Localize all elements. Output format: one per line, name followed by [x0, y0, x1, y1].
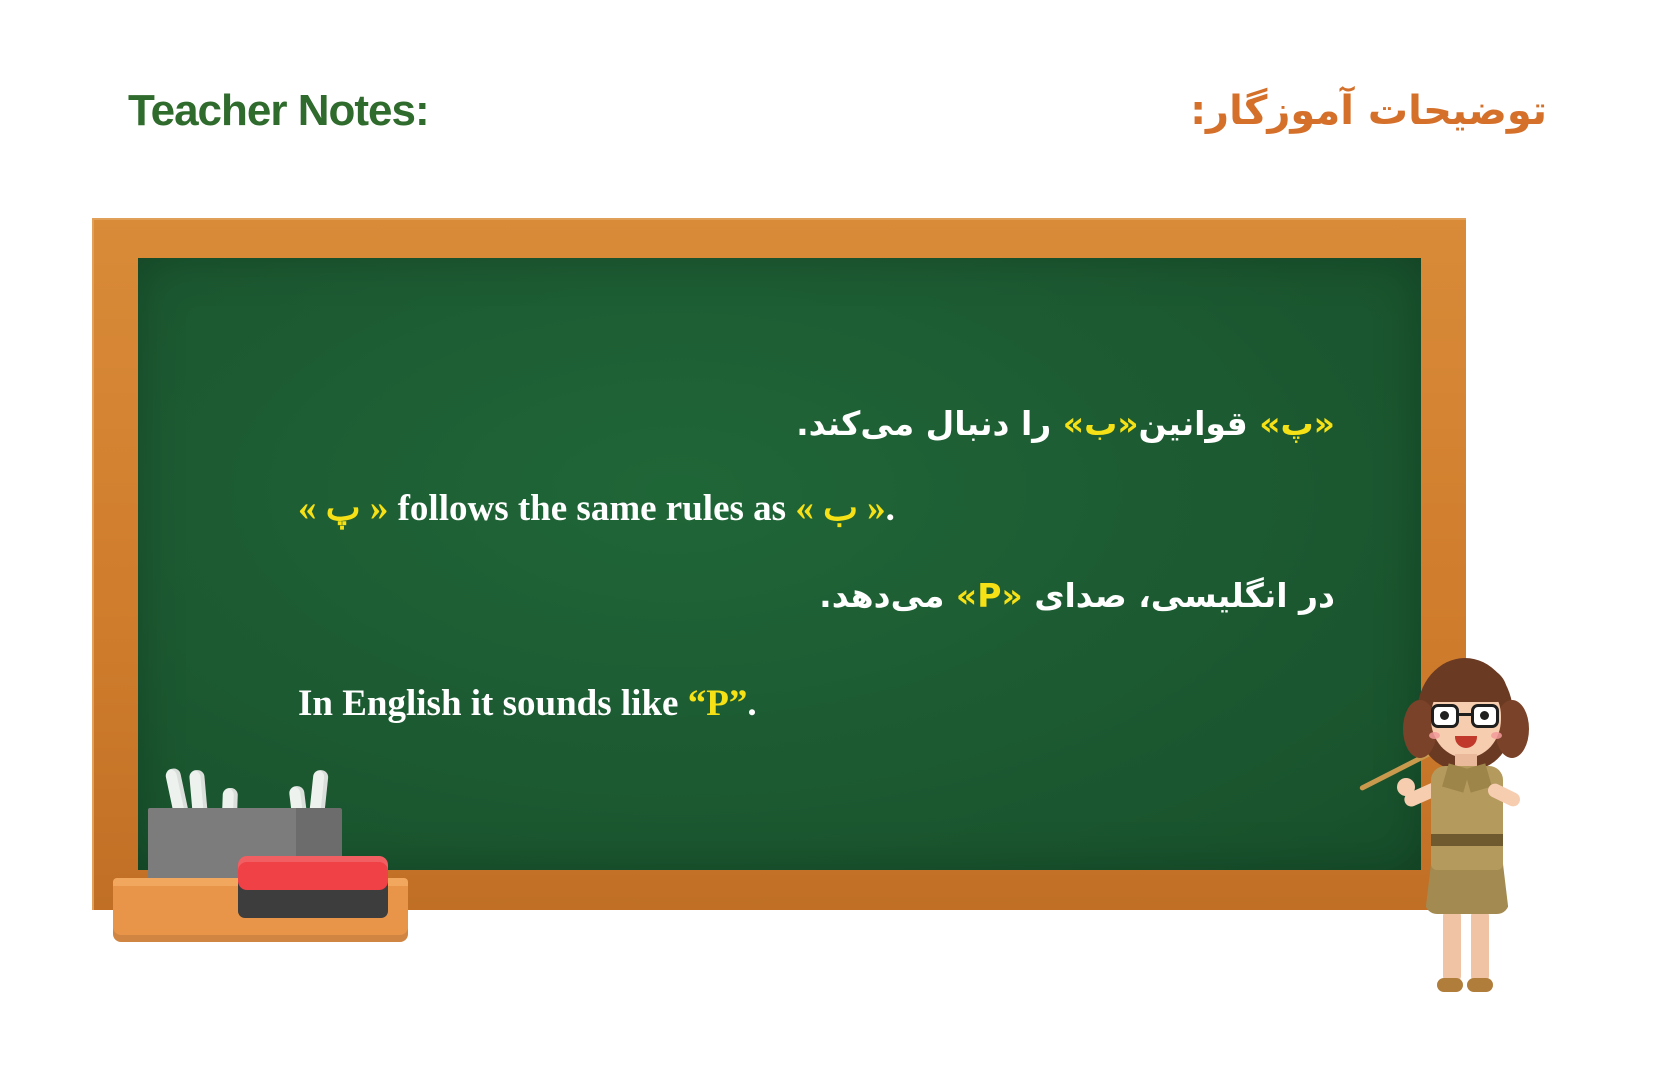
board-line-en-sound-text: In English it sounds like	[298, 683, 688, 724]
teacher-cheek-left	[1429, 732, 1440, 739]
teacher-belt	[1431, 834, 1503, 846]
teacher-hair-fringe	[1425, 668, 1507, 702]
board-line-fa-rule-text-2: را دنبال می‌کند.	[796, 404, 1063, 443]
board-eraser	[238, 856, 388, 890]
letter-be-en-quoted: « ب »	[795, 488, 885, 529]
board-line-en-rule: « پ » follows the same rules as « ب ».	[298, 486, 895, 530]
board-line-fa-sound-text-2: می‌دهد.	[819, 576, 956, 615]
teacher-illustration	[1395, 648, 1535, 1008]
sound-p-fa: «P»	[956, 576, 1023, 615]
teacher-cheek-right	[1491, 732, 1502, 739]
board-line-fa-rule-text-1: قوانین	[1139, 404, 1260, 443]
board-line-fa-sound-text-1: در انگلیسی، صدای	[1023, 576, 1335, 615]
teacher-eye-right	[1480, 711, 1489, 720]
board-line-en-rule-period: .	[886, 488, 895, 529]
letter-be-fa: «ب»	[1063, 404, 1139, 443]
teacher-leg-left	[1443, 910, 1461, 982]
glasses-bridge	[1459, 713, 1471, 716]
teacher-shoe-right	[1467, 978, 1493, 992]
page-title-persian: توضیحات آموزگار:	[1190, 88, 1547, 134]
board-line-en-sound-period: .	[747, 683, 756, 724]
letter-pe-fa: «پ»	[1259, 404, 1335, 443]
letter-pe-en-quoted: « پ »	[298, 488, 388, 529]
sound-p-en: “P”	[688, 683, 748, 724]
teacher-eye-left	[1440, 711, 1449, 720]
board-line-fa-sound: در انگلیسی، صدای «P» می‌دهد.	[819, 576, 1335, 615]
board-line-fa-rule: «پ» قوانین«ب» را دنبال می‌کند.	[796, 404, 1335, 443]
page-title-english: Teacher Notes:	[128, 86, 429, 136]
blackboard-surface: «پ» قوانین«ب» را دنبال می‌کند. « پ » fol…	[138, 258, 1421, 870]
board-line-en-sound: In English it sounds like “P”.	[298, 682, 757, 725]
teacher-shoe-left	[1437, 978, 1463, 992]
board-line-en-rule-text: follows the same rules as	[388, 488, 795, 529]
teacher-leg-right	[1471, 910, 1489, 982]
